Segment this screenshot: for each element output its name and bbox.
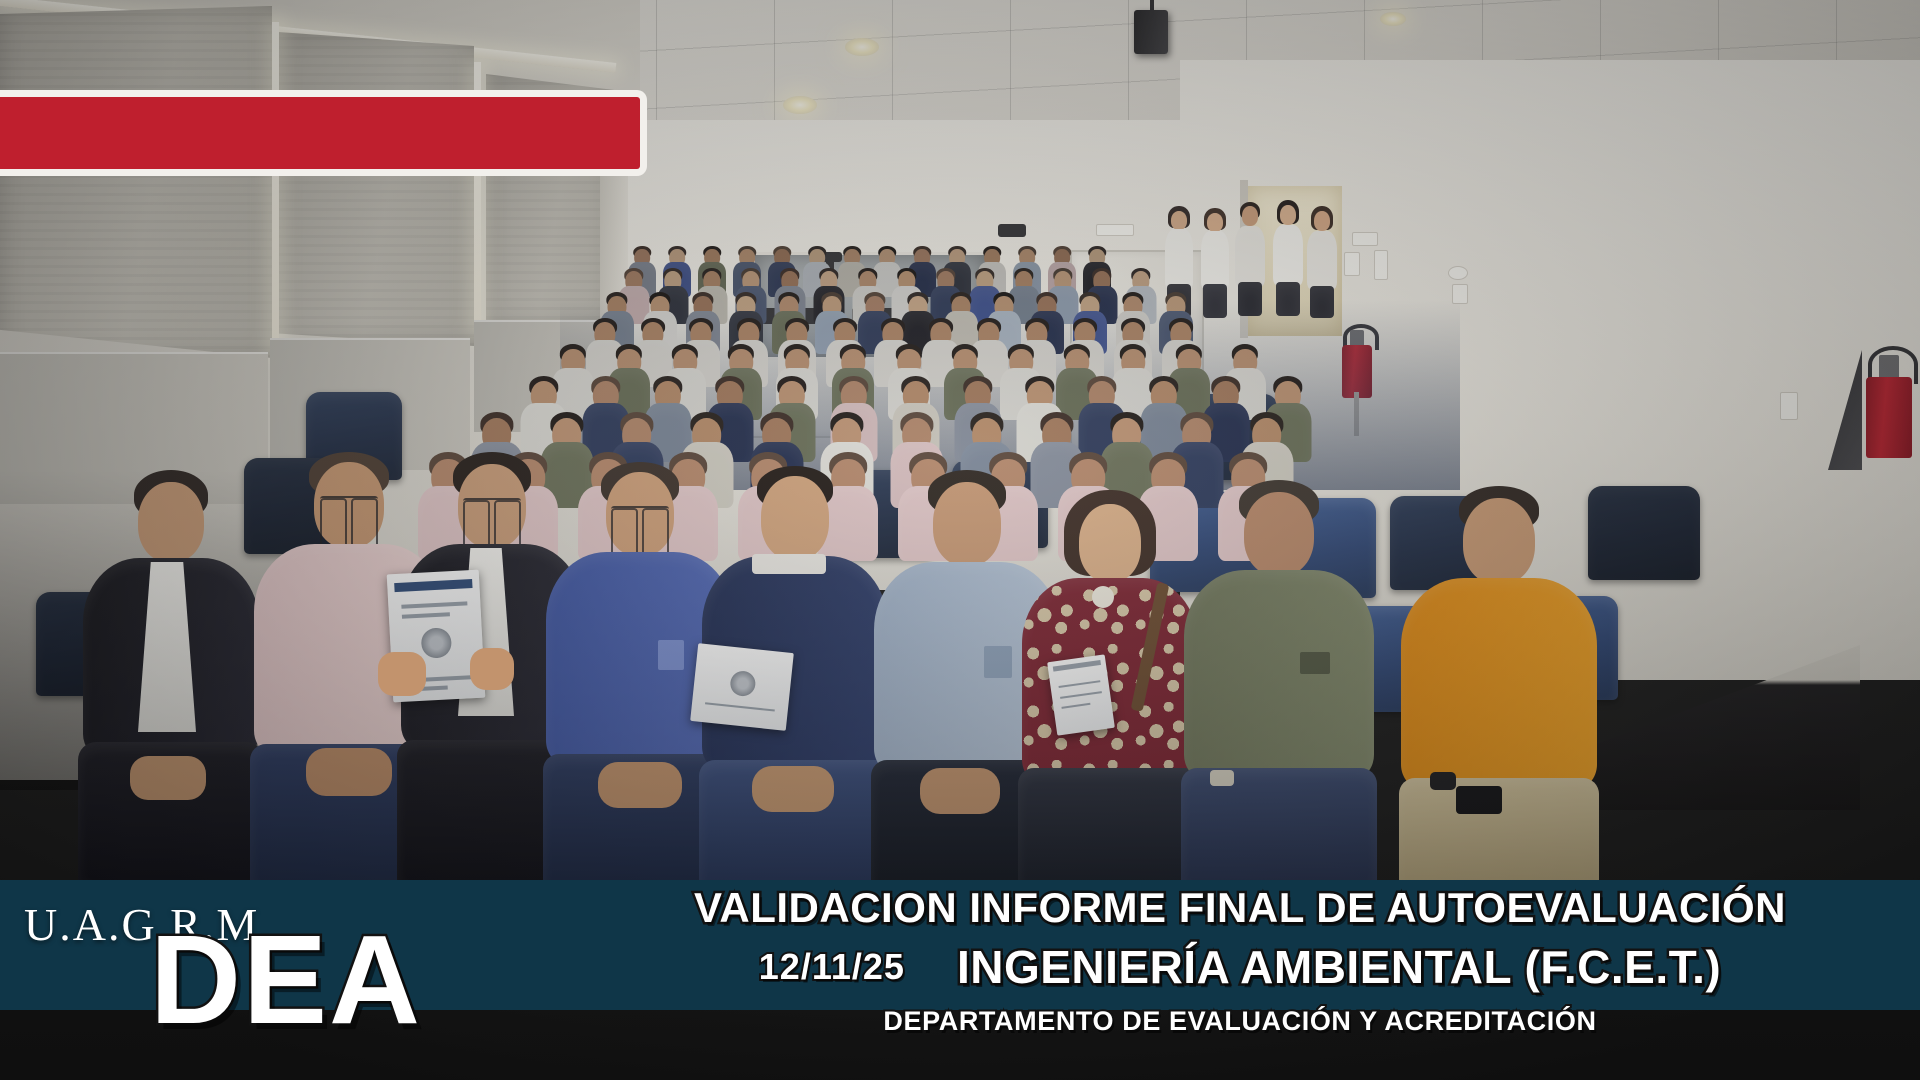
document-seal-icon [730, 670, 757, 697]
booth-camera [998, 224, 1026, 237]
torso [1201, 231, 1229, 289]
legs [1310, 286, 1334, 318]
window-light-gap [272, 22, 279, 352]
wall-switch-plate[interactable] [1374, 250, 1388, 280]
handout-document [1047, 654, 1115, 735]
lap [1018, 768, 1202, 888]
handout-document [690, 643, 794, 731]
hands-holding-document [378, 652, 426, 696]
banner-title-line1-wrap: VALIDACION INFORME FINAL DE AUTOEVALUACI… [560, 884, 1920, 932]
hands-holding-document [470, 648, 514, 690]
hanging-speaker [1134, 10, 1168, 54]
wristwatch [1210, 770, 1234, 786]
ceiling-downlight [1380, 12, 1406, 26]
necklace [1092, 586, 1114, 608]
head [1314, 211, 1330, 231]
fire-extinguisher [1866, 346, 1912, 458]
front-row-attendee [76, 470, 266, 880]
document-line [402, 612, 450, 618]
shirt-pocket [984, 646, 1012, 678]
head [1244, 492, 1314, 576]
head [1079, 504, 1141, 582]
banner-title-line2: INGENIERÍA AMBIENTAL (F.C.E.T.) [957, 940, 1721, 994]
legs [1238, 282, 1262, 316]
attendee [1234, 202, 1266, 316]
document-header-bar [1052, 660, 1101, 672]
hands [598, 762, 682, 808]
torso [1401, 578, 1597, 790]
auditorium-seat[interactable] [1588, 486, 1700, 580]
document-line [401, 601, 467, 608]
banner-title-line1: VALIDACION INFORME FINAL DE AUTOEVALUACI… [694, 884, 1786, 931]
wall-switch-plate[interactable] [1344, 252, 1360, 276]
head [1280, 205, 1296, 225]
torso [1307, 231, 1337, 289]
shirt-pocket [658, 640, 684, 670]
hands [130, 756, 206, 800]
window-blind [0, 6, 272, 358]
torso [1022, 578, 1198, 784]
banner-title-row2: 12/11/25 INGENIERÍA AMBIENTAL (F.C.E.T.) [560, 940, 1920, 994]
extinguisher-body [1866, 377, 1912, 458]
wall-sign [1352, 232, 1378, 246]
banner-subtitle: DEPARTAMENTO DE EVALUACIÓN Y ACREDITACIÓ… [560, 1006, 1920, 1037]
document-line [1062, 703, 1091, 709]
hands [306, 748, 392, 796]
wall-sign [1448, 266, 1468, 280]
head [1207, 213, 1223, 232]
window-blind [278, 32, 474, 346]
attendee [1306, 206, 1338, 318]
document-line [1059, 680, 1101, 688]
ceiling-downlight [845, 38, 879, 56]
head [1171, 211, 1187, 230]
document-header-bar [395, 579, 473, 592]
wall-switch-plate[interactable] [1780, 392, 1798, 420]
torso [1184, 570, 1374, 780]
front-row-attendee [1396, 486, 1602, 882]
document-line [1060, 691, 1102, 699]
screenshot-root: U.A.G.R.M. DEA VALIDACION INFORME FINAL … [0, 0, 1920, 1080]
ceiling-downlight [783, 96, 817, 114]
polo-collar [752, 554, 826, 574]
hands [752, 766, 834, 812]
attendee [1272, 200, 1304, 316]
front-row-attendee [1178, 480, 1380, 880]
hands [920, 768, 1000, 814]
torso [1273, 225, 1303, 285]
head [761, 476, 829, 560]
wristwatch [1430, 772, 1456, 790]
head [933, 482, 1001, 566]
lap [1181, 768, 1377, 884]
head [138, 482, 204, 562]
department-acronym: DEA [150, 922, 422, 1038]
head [1242, 206, 1258, 226]
shirt-pocket [1300, 652, 1330, 674]
torso [1235, 226, 1265, 286]
front-row-attendee [1016, 490, 1204, 886]
legs [1276, 282, 1300, 316]
wall-sign [1096, 224, 1134, 236]
banner-red-strip [0, 90, 647, 176]
event-date: 12/11/25 [759, 946, 905, 988]
attendee [1200, 208, 1230, 316]
torso [1165, 229, 1193, 289]
document-line [705, 702, 774, 712]
legs [1203, 284, 1227, 318]
head [1463, 498, 1535, 584]
smartphone [1456, 786, 1502, 814]
document-seal-icon [421, 628, 452, 659]
